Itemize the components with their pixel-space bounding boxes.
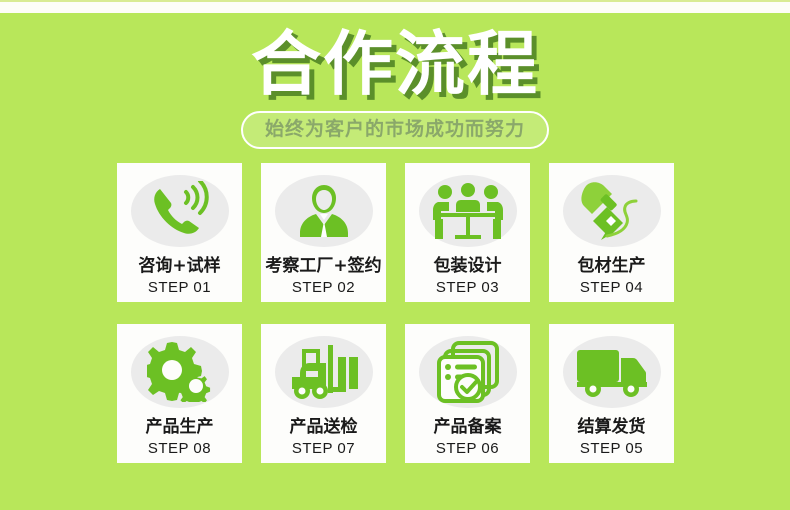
step-card-2[interactable]: 考察工厂+签约 STEP 02 xyxy=(261,163,386,302)
meeting-table-icon xyxy=(433,183,503,239)
step-label: 产品备案 xyxy=(434,417,502,437)
step-number: STEP 08 xyxy=(148,440,211,458)
subtitle-pill-wrapper: 始终为客户的市场成功而努力 xyxy=(0,111,790,149)
step-card-5[interactable]: 产品生产 STEP 08 xyxy=(117,324,242,463)
page-title: 合作流程 xyxy=(0,25,790,103)
step-card-7[interactable]: 产品备案 STEP 06 xyxy=(405,324,530,463)
step-number: STEP 07 xyxy=(292,440,355,458)
step-label: 产品送检 xyxy=(290,417,358,437)
step-number: STEP 03 xyxy=(436,279,499,297)
step-label: 考察工厂+签约 xyxy=(265,256,381,276)
step-number: STEP 02 xyxy=(292,279,355,297)
step-icon-1-wrap xyxy=(128,173,232,249)
step-number: STEP 05 xyxy=(580,440,643,458)
step-number: STEP 04 xyxy=(580,279,643,297)
step-card-3[interactable]: 包装设计 STEP 03 xyxy=(405,163,530,302)
step-icon-4-wrap xyxy=(560,173,664,249)
step-card-6[interactable]: 产品送检 STEP 07 xyxy=(261,324,386,463)
delivery-truck-icon xyxy=(575,346,649,398)
step-icon-2-wrap xyxy=(272,173,376,249)
step-number: STEP 01 xyxy=(148,279,211,297)
step-icon-6-wrap xyxy=(272,334,376,410)
forklift-icon xyxy=(288,343,360,401)
step-icon-8-wrap xyxy=(560,334,664,410)
businessman-icon xyxy=(294,181,354,241)
document-check-icon xyxy=(437,341,499,403)
step-label: 结算发货 xyxy=(578,417,646,437)
banner-header: 合作流程 始终为客户的市场成功而努力 xyxy=(0,13,790,149)
gears-icon xyxy=(147,342,213,402)
step-icon-7-wrap xyxy=(416,334,520,410)
subtitle-pill: 始终为客户的市场成功而努力 xyxy=(241,111,549,149)
cooperation-process-banner: 合作流程 始终为客户的市场成功而努力 咨询+试样 STEP 01 xyxy=(0,0,790,510)
step-icon-3-wrap xyxy=(416,173,520,249)
fountain-pen-icon xyxy=(580,180,644,242)
steps-grid: 咨询+试样 STEP 01 考察工厂+签约 STEP 02 xyxy=(117,163,675,463)
top-white-strip xyxy=(0,2,790,13)
step-label: 咨询+试样 xyxy=(138,256,220,276)
step-card-1[interactable]: 咨询+试样 STEP 01 xyxy=(117,163,242,302)
step-label: 产品生产 xyxy=(146,417,214,437)
step-label: 包装设计 xyxy=(434,256,502,276)
step-label: 包材生产 xyxy=(578,256,646,276)
step-card-4[interactable]: 包材生产 STEP 04 xyxy=(549,163,674,302)
step-card-8[interactable]: 结算发货 STEP 05 xyxy=(549,324,674,463)
step-icon-5-wrap xyxy=(128,334,232,410)
step-number: STEP 06 xyxy=(436,440,499,458)
phone-ringing-icon xyxy=(148,181,212,241)
